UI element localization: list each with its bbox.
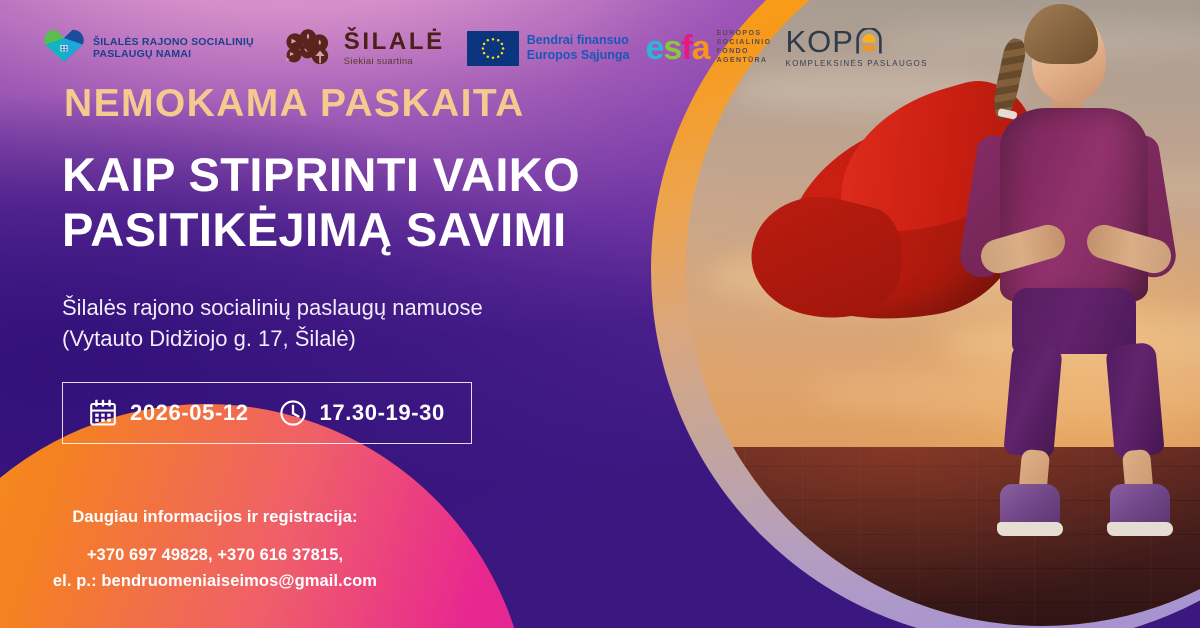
silale-mark-icon	[284, 29, 336, 67]
esfa-letter-s: s	[663, 29, 681, 67]
logo-kopa: KOP KOMPLEKSINĖS PASLAUGOS	[785, 28, 927, 69]
headline-line-2: PASITIKĖJIMĄ SAVIMI	[62, 202, 702, 257]
contact-block: Daugiau informacijos ir registracija: +3…	[0, 508, 430, 594]
silale-wordmark: ŠILALĖ	[344, 30, 445, 54]
event-date: 2026-05-12	[130, 400, 249, 426]
clock-icon	[279, 399, 307, 427]
eu-logo-line1: Bendrai finansuo	[527, 33, 630, 48]
kopa-tagline: KOMPLEKSINĖS PASLAUGOS	[785, 59, 927, 68]
hair	[1024, 4, 1098, 64]
esfa-sub-text: EUROPOS SOCIALINIO FONDO AGENTŪRA	[717, 30, 772, 66]
silale-tagline: Siekiai suartina	[344, 56, 445, 67]
right-legging	[1105, 342, 1165, 458]
venue-line-2: (Vytauto Didžiojo g. 17, Šilalė)	[62, 323, 702, 354]
kopa-letter-o: O	[807, 28, 832, 57]
venue-address: Šilalės rajono socialinių paslaugų namuo…	[62, 292, 702, 354]
headline-line-1: KAIP STIPRINTI VAIKO	[62, 147, 702, 202]
time-item: 17.30-19-30	[279, 399, 445, 427]
schedule-box: 2026-05-12 17.30-19-30	[62, 382, 472, 444]
logo-esfa: esfa EUROPOS SOCIALINIO FONDO AGENTŪRA	[646, 30, 772, 66]
esfa-letter-a: a	[692, 29, 710, 67]
event-poster: ŠILALĖS RAJONO SOCIALINIŲ PASLAUGŲ NAMAI	[0, 0, 1200, 628]
sps-logo-line2: PASLAUGŲ NAMAI	[93, 48, 254, 60]
esfa-sub-line2: SOCIALINIO	[717, 39, 772, 48]
purple-shirt	[1000, 108, 1148, 302]
kopa-letter-k: K	[785, 28, 807, 57]
eyebrow-label: NEMOKAMA PASKAITA	[64, 84, 702, 123]
left-sole	[997, 522, 1063, 536]
eu-flag-icon	[467, 31, 519, 66]
date-item: 2026-05-12	[89, 399, 249, 427]
contact-email: el. p.: bendruomeniaiseimos@gmail.com	[0, 569, 430, 595]
page-title: KAIP STIPRINTI VAIKO PASITIKĖJIMĄ SAVIMI	[62, 147, 702, 258]
girl-superhero-photo	[686, 0, 1200, 626]
logo-silale: ŠILALĖ Siekiai suartina	[284, 29, 445, 67]
sps-logo-text: ŠILALĖS RAJONO SOCIALINIŲ PASLAUGŲ NAMAI	[93, 36, 254, 61]
esfa-wordmark: esfa	[646, 33, 710, 64]
eu-logo-text: Bendrai finansuo Europos Sąjunga	[527, 33, 630, 63]
kopa-letter-a-icon	[856, 28, 882, 55]
kopa-letter-p: P	[832, 28, 854, 57]
contact-phones: +370 697 49828, +370 616 37815,	[0, 543, 430, 569]
poster-content: NEMOKAMA PASKAITA KAIP STIPRINTI VAIKO P…	[62, 84, 702, 444]
esfa-letter-f: f	[681, 29, 691, 67]
esfa-sub-line3: FONDO	[717, 48, 772, 57]
esfa-sub-line4: AGENTŪRA	[717, 57, 772, 66]
sps-logo-line1: ŠILALĖS RAJONO SOCIALINIŲ	[93, 36, 254, 48]
event-time: 17.30-19-30	[320, 400, 445, 426]
logo-european-union: Bendrai finansuo Europos Sąjunga	[467, 31, 630, 66]
girl-figure	[928, 10, 1200, 480]
logo-silales-paslaugu-namai: ŠILALĖS RAJONO SOCIALINIŲ PASLAUGŲ NAMAI	[44, 29, 254, 67]
left-legging	[1003, 342, 1063, 458]
sponsor-logo-bar: ŠILALĖS RAJONO SOCIALINIŲ PASLAUGŲ NAMAI	[44, 20, 928, 76]
esfa-letter-e: e	[646, 29, 664, 67]
contact-title: Daugiau informacijos ir registracija:	[0, 508, 430, 527]
heart-logo-icon	[44, 29, 84, 67]
esfa-sub-line1: EUROPOS	[717, 30, 772, 39]
silale-logo-text: ŠILALĖ Siekiai suartina	[344, 30, 445, 67]
kopa-wordmark: KOP	[785, 28, 882, 57]
calendar-icon	[89, 399, 117, 427]
eu-logo-line2: Europos Sąjunga	[527, 48, 630, 63]
right-sole	[1107, 522, 1173, 536]
venue-line-1: Šilalės rajono socialinių paslaugų namuo…	[62, 292, 702, 323]
